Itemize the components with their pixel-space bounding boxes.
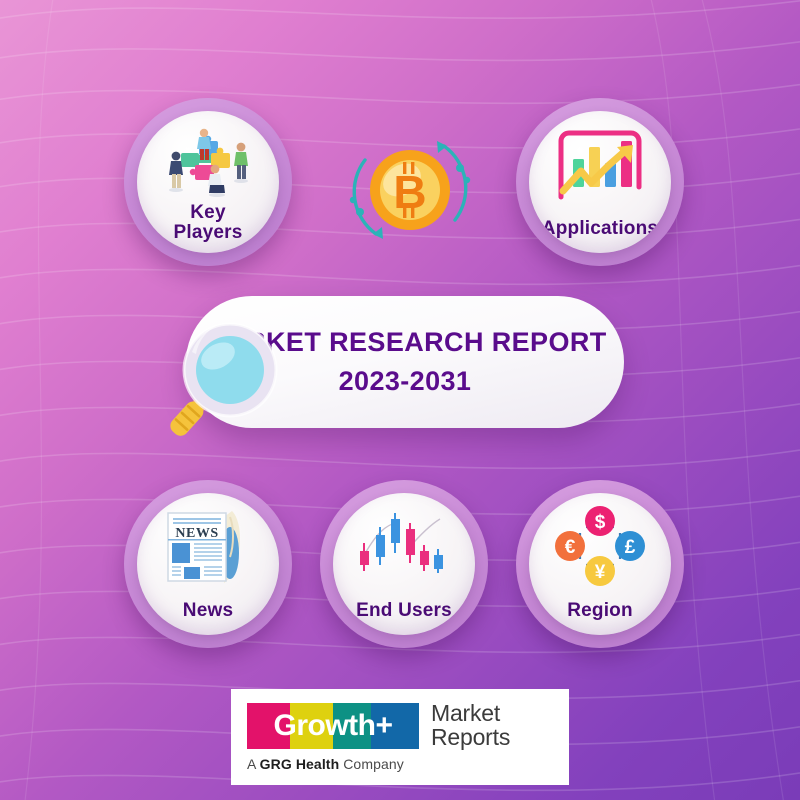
- bar-chart-growth-icon: [529, 125, 671, 205]
- bitcoin-coin-icon: B: [336, 116, 484, 264]
- circle-region-label: Region: [563, 601, 637, 621]
- svg-text:$: $: [595, 512, 606, 533]
- logo-name: Market Reports: [431, 702, 510, 749]
- magnifying-glass-icon: [168, 312, 298, 462]
- circle-end-users-label: End Users: [352, 601, 456, 621]
- circle-key-players[interactable]: Key Players: [124, 98, 292, 266]
- circle-applications-inner: Applications: [529, 111, 671, 253]
- tagline-suffix: Company: [339, 756, 404, 772]
- svg-text:NEWS: NEWS: [175, 526, 218, 541]
- svg-text:¥: ¥: [595, 562, 606, 583]
- logo-name-line1: Market: [431, 702, 510, 725]
- logo-wordmark: Growth+: [273, 711, 392, 741]
- key-players-label-line1: Key: [173, 203, 242, 223]
- circle-applications-label: Applications: [538, 219, 662, 239]
- circle-applications[interactable]: Applications: [516, 98, 684, 266]
- circle-region-inner: $ € £ ¥ Region: [529, 493, 671, 635]
- logo-tagline: A GRG Health Company: [247, 756, 553, 772]
- circle-news[interactable]: NEWS News: [124, 480, 292, 648]
- logo-row: Growth+ Market Reports: [247, 702, 553, 749]
- svg-text:€: €: [565, 537, 576, 558]
- tagline-bold: GRG Health: [260, 756, 340, 772]
- logo-name-line2: Reports: [431, 726, 510, 749]
- circle-region[interactable]: $ € £ ¥ Region: [516, 480, 684, 648]
- circle-end-users-inner: End Users: [333, 493, 475, 635]
- svg-text:B: B: [393, 166, 426, 218]
- key-players-label-line2: Players: [173, 223, 242, 243]
- circle-news-inner: NEWS News: [137, 493, 279, 635]
- tagline-prefix: A: [247, 756, 260, 772]
- newspaper-icon: NEWS: [137, 505, 279, 587]
- growth-plus-logo-mark: Growth+: [247, 703, 419, 749]
- circle-key-players-label: Key Players: [169, 203, 246, 243]
- circle-news-label: News: [179, 601, 237, 621]
- brand-logo: Growth+ Market Reports A GRG Health Comp…: [231, 689, 569, 785]
- candlestick-chart-icon: [333, 505, 475, 581]
- page-subtitle-years: 2023-2031: [339, 366, 472, 397]
- svg-text:£: £: [625, 537, 636, 558]
- currency-exchange-icon: $ € £ ¥: [529, 505, 671, 589]
- team-puzzle-icon: [137, 125, 279, 199]
- circle-key-players-inner: Key Players: [137, 111, 279, 253]
- poster-canvas: Key Players B: [0, 0, 800, 800]
- circle-end-users[interactable]: End Users: [320, 480, 488, 648]
